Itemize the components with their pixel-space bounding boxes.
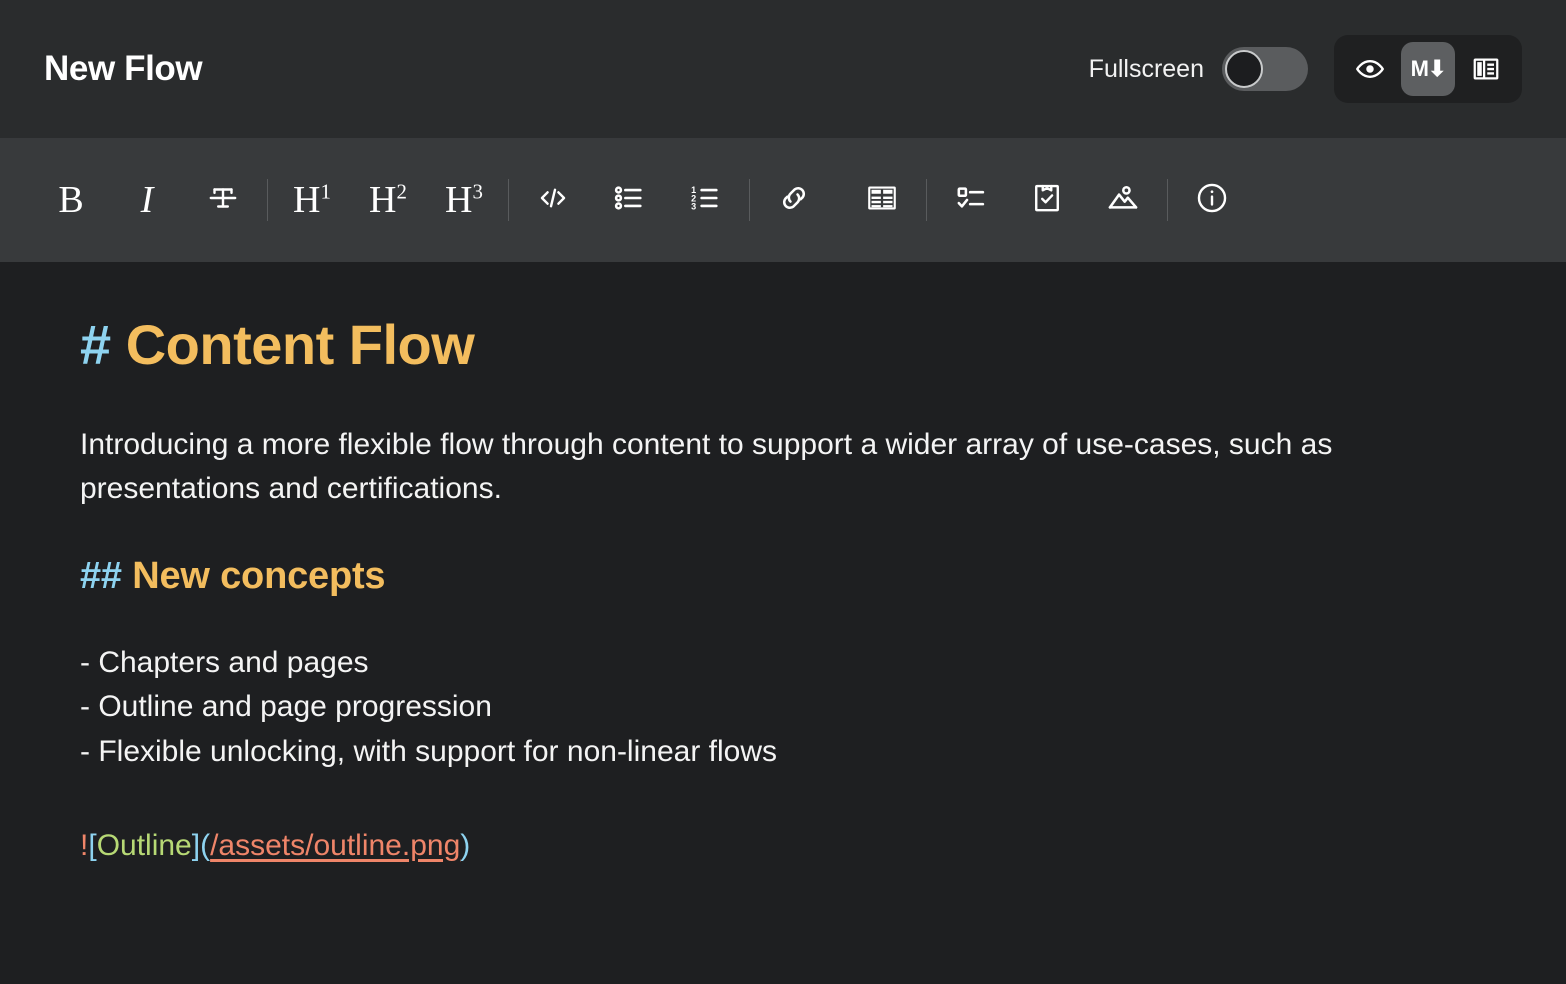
bold-button[interactable]: B — [40, 169, 102, 231]
h2-text: New concepts — [132, 555, 385, 597]
heading-1-button[interactable]: H1 — [281, 169, 343, 231]
heading-2-button[interactable]: H2 — [357, 169, 419, 231]
strikethrough-button[interactable] — [192, 169, 254, 231]
bulleted-list-button[interactable] — [598, 169, 660, 231]
preview-eye-button[interactable] — [1343, 42, 1397, 96]
heading-3-button[interactable]: H3 — [433, 169, 495, 231]
h2-hash-token: ## — [80, 555, 122, 597]
view-mode-button-group: M⬇ — [1334, 35, 1522, 103]
list-item: - Flexible unlocking, with support for n… — [80, 730, 1486, 775]
fullscreen-control[interactable]: Fullscreen — [1089, 47, 1308, 91]
image-url[interactable]: /assets/outline.png — [210, 829, 460, 862]
svg-text:3: 3 — [691, 201, 696, 211]
eye-icon — [1355, 54, 1385, 84]
h2-icon: H2 — [369, 181, 407, 219]
list-item: - Outline and page progression — [80, 685, 1486, 730]
bold-icon: B — [58, 181, 83, 219]
markdown-icon: M⬇ — [1411, 56, 1446, 82]
h1-icon: H1 — [293, 181, 331, 219]
clipboard-check-icon — [1030, 181, 1064, 220]
image-alt-text: Outline — [97, 829, 192, 862]
formatting-toolbar: B I H1 H2 — [0, 138, 1566, 262]
numbered-list-button[interactable]: 1 2 3 — [674, 169, 736, 231]
markdown-paragraph[interactable]: Introducing a more flexible flow through… — [80, 423, 1486, 511]
toolbar-divider — [1167, 179, 1168, 221]
app-header: New Flow Fullscreen — [0, 0, 1566, 138]
fullscreen-toggle[interactable] — [1222, 47, 1308, 91]
link-button[interactable] — [763, 169, 825, 231]
image-open-bracket: [ — [88, 829, 96, 862]
numbered-list-icon: 1 2 3 — [688, 181, 722, 220]
image-button[interactable] — [1092, 169, 1154, 231]
toolbar-divider — [749, 179, 750, 221]
strikethrough-icon — [206, 181, 240, 220]
split-pane-icon — [1471, 54, 1501, 84]
h1-text: Content Flow — [126, 313, 475, 376]
toolbar-divider — [926, 179, 927, 221]
bulleted-list-icon — [612, 181, 646, 220]
h1-hash-token: # — [80, 313, 111, 376]
fullscreen-label: Fullscreen — [1089, 55, 1204, 84]
image-close-paren: ) — [460, 829, 470, 862]
italic-button[interactable]: I — [116, 169, 178, 231]
table-icon — [865, 181, 899, 220]
header-controls: Fullscreen M⬇ — [1089, 35, 1522, 103]
info-icon — [1195, 181, 1229, 220]
h3-icon: H3 — [445, 181, 483, 219]
markdown-mode-button[interactable]: M⬇ — [1401, 42, 1455, 96]
info-button[interactable] — [1181, 169, 1243, 231]
list-item: - Chapters and pages — [80, 641, 1486, 686]
markdown-editor-area[interactable]: # Content Flow Introducing a more flexib… — [0, 262, 1566, 984]
markdown-editor-window: New Flow Fullscreen — [0, 0, 1566, 984]
markdown-image-reference[interactable]: ![Outline](/assets/outline.png) — [80, 825, 1486, 867]
toggle-knob — [1225, 50, 1263, 88]
task-list-icon — [954, 181, 988, 220]
split-pane-button[interactable] — [1459, 42, 1513, 96]
markdown-heading-1[interactable]: # Content Flow — [80, 314, 1486, 377]
code-icon — [536, 181, 570, 220]
link-icon — [777, 181, 811, 220]
toolbar-divider — [267, 179, 268, 221]
toolbar-divider — [508, 179, 509, 221]
italic-icon: I — [141, 181, 154, 219]
image-open-paren: ( — [200, 829, 210, 862]
image-icon — [1106, 181, 1140, 220]
table-button[interactable] — [851, 169, 913, 231]
markdown-heading-2[interactable]: ## New concepts — [80, 555, 1486, 599]
code-button[interactable] — [522, 169, 584, 231]
task-list-button[interactable] — [940, 169, 1002, 231]
clipboard-check-button[interactable] — [1016, 169, 1078, 231]
image-close-bracket: ] — [192, 829, 200, 862]
markdown-list[interactable]: - Chapters and pages - Outline and page … — [80, 641, 1486, 775]
page-title: New Flow — [44, 49, 202, 89]
